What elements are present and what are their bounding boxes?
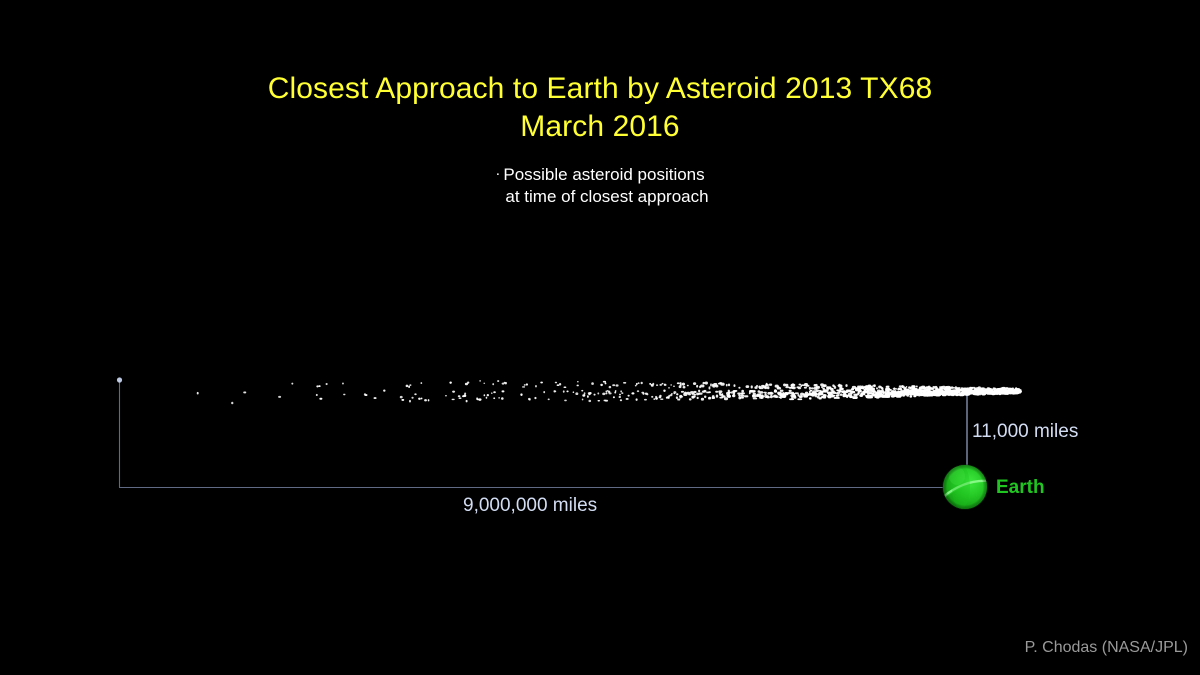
approach-diagram [0, 0, 1200, 675]
horizontal-distance-label: 9,000,000 miles [463, 495, 597, 517]
figure-canvas: Closest Approach to Earth by Asteroid 20… [0, 0, 1200, 675]
earth-sphere [942, 464, 989, 510]
earth-label: Earth [996, 477, 1045, 499]
vertical-distance-label: 11,000 miles [972, 421, 1078, 443]
credit-text: P. Chodas (NASA/JPL) [1025, 639, 1188, 657]
asteroid-position-cloud [197, 380, 1022, 404]
left-endpoint-marker [117, 377, 122, 382]
